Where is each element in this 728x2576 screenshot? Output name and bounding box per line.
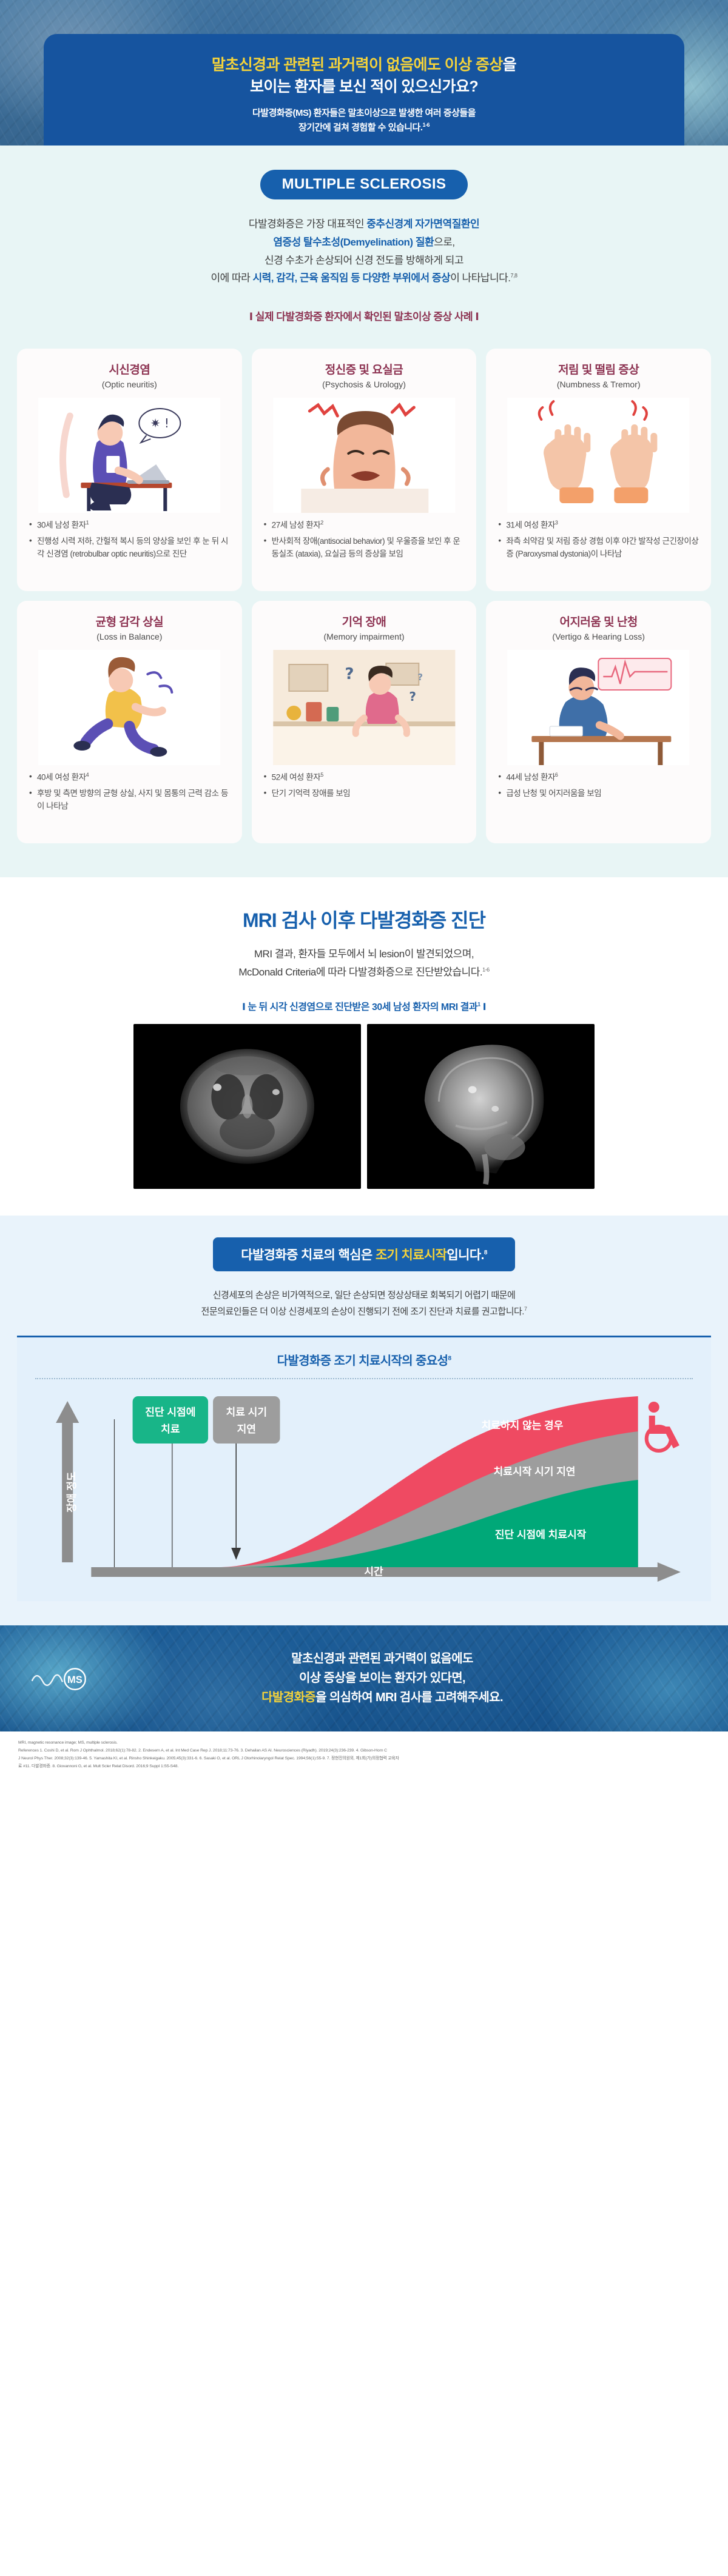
case-card-numbness-tremor: 저림 및 떨림 증상 (Numbness & Tremor) [486, 349, 711, 591]
svg-text:치료: 치료 [161, 1423, 180, 1435]
case-subtitle: (Memory impairment) [261, 632, 467, 641]
cases-section-title: Ⅰ 실제 다발경화증 환자에서 확인된 말초이상 증상 사례 Ⅰ [0, 308, 728, 323]
hero-headline-highlight: 말초신경과 관련된 과거력이 없음에도 이상 증상 [212, 56, 503, 73]
ms-desc-line4-plain-b: 이 나타납니다. [450, 272, 510, 284]
bullet-ref: 2 [320, 520, 323, 526]
cta-line2: 이상 증상을 보이는 환자가 있다면, [261, 1668, 503, 1688]
illustration-man-laptop-eye-pain: ✷ ! [27, 398, 232, 513]
hero-headline-card: 말초신경과 관련된 과거력이 없음에도 이상 증상을 보이는 환자를 보신 적이… [44, 34, 684, 146]
chart-plot: 치료하지 않는 경우 치료시작 시기 지연 진단 시점에 치료시작 진단 시점에… [35, 1385, 693, 1585]
mri-caption-tail: Ⅰ [480, 1002, 486, 1012]
series-label-no-treatment: 치료하지 않는 경우 [481, 1420, 563, 1431]
chart-container: 다발경화증 조기 치료시작의 중요성8 [17, 1336, 711, 1601]
case-bullets: 44세 남성 환자6 급성 난청 및 어지러움을 보임 [496, 771, 701, 804]
treatment-banner-highlight: 조기 치료시작 [376, 1248, 447, 1262]
case-title: 기억 장애 [261, 613, 467, 629]
list-item: 52세 여성 환자5 [264, 771, 465, 784]
series-label-delayed: 치료시작 시기 지연 [494, 1466, 576, 1477]
illustration-woman-falling [27, 650, 232, 765]
bullet-text: 40세 여성 환자 [37, 773, 86, 782]
case-bullets: 40세 여성 환자4 후방 및 측면 방향의 균형 상실, 사지 및 몸통의 근… [27, 771, 232, 817]
mri-desc-ref: 1-6 [482, 966, 490, 972]
treatment-section: 다발경화증 치료의 핵심은 조기 치료시작입니다.8 신경세포의 손상은 비가역… [0, 1216, 728, 1625]
bullet-ref: 4 [86, 772, 89, 778]
bullet-text: 진행성 시력 저하, 간헐적 복시 등의 양상을 보인 후 눈 뒤 시각 신경염… [37, 537, 228, 558]
mri-description: MRI 결과, 환자들 모두에서 뇌 lesion이 발견되었으며, McDon… [0, 945, 728, 982]
y-axis-label: 장애 정도 [66, 1471, 78, 1513]
wheelchair-icon [647, 1402, 679, 1451]
case-cards-row-2: 균형 감각 상실 (Loss in Balance) [17, 601, 711, 843]
mri-heading: MRI 검사 이후 다발경화증 진단 [0, 905, 728, 933]
x-axis-label: 시간 [364, 1566, 383, 1577]
list-item: 진행성 시력 저하, 간헐적 복시 등의 양상을 보인 후 눈 뒤 시각 신경염… [29, 535, 230, 561]
case-bullets: 31세 여성 환자3 좌측 쇠약감 및 저림 증상 경험 이후 야간 발작성 근… [496, 519, 701, 564]
bullet-ref: 5 [320, 772, 323, 778]
svg-text:?: ? [417, 672, 423, 683]
case-subtitle: (Optic neuritis) [27, 380, 232, 389]
ms-logo: MS [29, 1659, 96, 1698]
illustration-man-desk-dizzy [496, 650, 701, 765]
bullet-text: 좌측 쇠약감 및 저림 증상 경험 이후 야간 발작성 근긴장이상증 (Paro… [506, 537, 698, 558]
ms-desc-line1-plain: 다발경화증은 가장 대표적인 [249, 218, 366, 230]
ms-desc-line3: 신경 수초가 손상되어 신경 전도를 방해하게 되고 [0, 252, 728, 270]
svg-text:치료 시기: 치료 시기 [226, 1407, 267, 1418]
bullet-text: 단기 기억력 장애를 보임 [272, 789, 351, 798]
hero-subtext-line1: 다발경화증(MS) 환자들은 말초이상으로 발생한 여러 증상들을 [252, 106, 476, 121]
references-abbrev: MRI, magnetic resonance image; MS, multi… [18, 1740, 710, 1746]
case-bullets: 27세 남성 환자2 반사회적 장애(antisocial behavior) … [261, 519, 467, 564]
hero-headline-tail: 을 [503, 56, 516, 73]
references-line3: 료 #11. 다발경화증. 8. Giovannoni G, et al. Mu… [18, 1764, 710, 1770]
mri-sagittal-brain-image [367, 1024, 595, 1189]
case-subtitle: (Vertigo & Hearing Loss) [496, 632, 701, 641]
mri-desc-line1: MRI 결과, 환자들 모두에서 뇌 lesion이 발견되었으며, [0, 945, 728, 963]
references-line2: J Neurol Phys Ther. 2008;32(3):139-46. 5… [18, 1756, 710, 1762]
cta-line3-plain: 을 의심하여 MRI 검사를 고려해주세요. [315, 1691, 503, 1704]
bullet-text: 27세 남성 환자 [272, 521, 321, 530]
list-item: 좌측 쇠약감 및 저림 증상 경험 이후 야간 발작성 근긴장이상증 (Paro… [498, 535, 699, 561]
treatment-banner-plain: 다발경화증 치료의 핵심은 [241, 1248, 376, 1262]
infographic-page: 말초신경과 관련된 과거력이 없음에도 이상 증상을 보이는 환자를 보신 적이… [0, 0, 728, 1782]
ms-desc-line2-bold: 염증성 탈수초성(Demyelination) 질환 [273, 236, 434, 248]
case-subtitle: (Numbness & Tremor) [496, 380, 701, 389]
treatment-banner-ref: 8 [484, 1250, 487, 1256]
list-item: 후방 및 측면 방향의 균형 상실, 사지 및 몸통의 근력 감소 등이 나타남 [29, 788, 230, 813]
bullet-ref: 3 [555, 520, 558, 526]
treatment-note-line2: 전문의료인들은 더 이상 신경세포의 손상이 진행되기 전에 조기 진단과 치료… [201, 1306, 524, 1317]
case-subtitle: (Loss in Balance) [27, 632, 232, 641]
hero-subtext-line2: 장기간에 걸쳐 경험할 수 있습니다. [298, 122, 423, 133]
illustration-hands-tremor [496, 398, 701, 513]
ms-desc-line4-plain-a: 이에 따라 [211, 272, 253, 284]
svg-text:?: ? [409, 689, 416, 704]
list-item: 급성 난청 및 어지러움을 보임 [498, 788, 699, 800]
svg-text:진단 시점에: 진단 시점에 [145, 1407, 195, 1418]
case-subtitle: (Psychosis & Urology) [261, 380, 467, 389]
case-title: 정신증 및 요실금 [261, 361, 467, 377]
case-cards-row-1: 시신경염 (Optic neuritis) ✷ ! [17, 349, 711, 591]
bullet-text: 31세 여성 환자 [506, 521, 555, 530]
ms-description: 다발경화증은 가장 대표적인 중추신경계 자가면역질환인 염증성 탈수초성(De… [0, 215, 728, 287]
case-card-vertigo-hearing-loss: 어지러움 및 난청 (Vertigo & Hearing Loss) [486, 601, 711, 843]
hero-banner: 말초신경과 관련된 과거력이 없음에도 이상 증상을 보이는 환자를 보신 적이… [0, 0, 728, 146]
treatment-note-line1: 신경세포의 손상은 비가역적으로, 일단 손상되면 정상상태로 회복되기 어렵기… [79, 1287, 649, 1303]
cta-line3-highlight: 다발경화증 [261, 1691, 315, 1704]
ms-desc-line4-bold: 시력, 감각, 근육 움직임 등 다양한 부위에서 증상 [253, 272, 451, 284]
list-item: 31세 여성 환자3 [498, 519, 699, 532]
case-bullets: 30세 남성 환자1 진행성 시력 저하, 간헐적 복시 등의 양상을 보인 후… [27, 519, 232, 564]
chart-title-text: 다발경화증 조기 치료시작의 중요성 [277, 1354, 448, 1368]
delay-arrow [231, 1444, 241, 1560]
mri-section: MRI 검사 이후 다발경화증 진단 MRI 결과, 환자들 모두에서 뇌 le… [0, 877, 728, 1216]
svg-text:✷ !: ✷ ! [150, 416, 169, 430]
case-title: 저림 및 떨림 증상 [496, 361, 701, 377]
list-item: 40세 여성 환자4 [29, 771, 230, 784]
hero-subtext-ref: 1-6 [423, 122, 430, 128]
hero-headline-line2: 보이는 환자를 보신 적이 있으신가요? [212, 76, 516, 98]
cta-banner: MS 말초신경과 관련된 과거력이 없음에도 이상 증상을 보이는 환자가 있다… [0, 1625, 728, 1731]
case-title: 균형 감각 상실 [27, 613, 232, 629]
hero-headline: 말초신경과 관련된 과거력이 없음에도 이상 증상을 보이는 환자를 보신 적이… [212, 55, 516, 98]
callout-delayed-treat: 치료 시기 지연 [213, 1396, 280, 1444]
case-card-optic-neuritis: 시신경염 (Optic neuritis) ✷ ! [17, 349, 242, 591]
list-item: 반사회적 장애(antisocial behavior) 및 우울증을 보인 후… [264, 535, 465, 561]
bullet-ref: 1 [86, 520, 89, 526]
bullet-ref: 6 [555, 772, 558, 778]
mri-caption: Ⅰ 눈 뒤 시각 신경염으로 진단받은 30세 남성 환자의 MRI 결과1 Ⅰ [0, 999, 728, 1013]
case-card-loss-in-balance: 균형 감각 상실 (Loss in Balance) [17, 601, 242, 843]
mri-desc-line2: McDonald Criteria에 따라 다발경화증으로 진단받았습니다. [238, 966, 482, 978]
bullet-text: 반사회적 장애(antisocial behavior) 및 우울증을 보인 후… [272, 537, 460, 558]
list-item: 44세 남성 환자6 [498, 771, 699, 784]
treatment-note-ref: 7 [524, 1306, 527, 1312]
bullet-text: 30세 남성 환자 [37, 521, 86, 530]
treatment-banner-wrap: 다발경화증 치료의 핵심은 조기 치료시작입니다.8 [0, 1216, 728, 1271]
ms-logo-text: MS [67, 1674, 83, 1685]
case-title: 어지러움 및 난청 [496, 613, 701, 629]
ms-desc-line2-plain: 으로, [434, 236, 455, 248]
ms-desc-ref: 7,8 [510, 273, 517, 279]
case-card-memory-impairment: 기억 장애 (Memory impairment) [252, 601, 477, 843]
mri-image-pair [133, 1024, 595, 1189]
treatment-banner: 다발경화증 치료의 핵심은 조기 치료시작입니다.8 [213, 1237, 515, 1271]
callout-diagnosis-treat: 진단 시점에 치료 [133, 1396, 208, 1444]
bullet-text: 52세 여성 환자 [272, 773, 321, 782]
references-line1: References 1. Coshi D, et al. Rom J Opht… [18, 1748, 710, 1754]
chart-divider [35, 1378, 693, 1379]
mri-caption-text: Ⅰ 눈 뒤 시각 신경염으로 진단받은 30세 남성 환자의 MRI 결과 [242, 1002, 477, 1012]
cta-text: 말초신경과 관련된 과거력이 없음에도 이상 증상을 보이는 환자가 있다면, … [225, 1649, 503, 1707]
illustration-man-head-anger [261, 398, 467, 513]
list-item: 30세 남성 환자1 [29, 519, 230, 532]
case-cards-section: 시신경염 (Optic neuritis) ✷ ! [0, 340, 728, 877]
ms-definition-section: MULTIPLE SCLEROSIS 다발경화증은 가장 대표적인 중추신경계 … [0, 146, 728, 340]
treatment-note: 신경세포의 손상은 비가역적으로, 일단 손상되면 정상상태로 회복되기 어렵기… [79, 1287, 649, 1320]
illustration-woman-kitchen-confused: ? ? ? [261, 650, 467, 765]
bullet-text: 후방 및 측면 방향의 균형 상실, 사지 및 몸통의 근력 감소 등이 나타남 [37, 789, 228, 811]
svg-text:?: ? [345, 665, 354, 683]
bullet-text: 급성 난청 및 어지러움을 보임 [506, 789, 601, 798]
ms-desc-line1-bold: 중추신경계 자가면역질환인 [366, 218, 479, 230]
hero-subtext: 다발경화증(MS) 환자들은 말초이상으로 발생한 여러 증상들을 장기간에 걸… [252, 106, 476, 135]
chart-title-ref: 8 [448, 1355, 451, 1362]
case-card-psychosis-urology: 정신증 및 요실금 (Psychosis & Urology) [252, 349, 477, 591]
references-footer: MRI, magnetic resonance image; MS, multi… [0, 1731, 728, 1783]
series-label-early: 진단 시점에 치료시작 [495, 1529, 587, 1541]
ms-badge: MULTIPLE SCLEROSIS [260, 170, 468, 199]
chart-title: 다발경화증 조기 치료시작의 중요성8 [35, 1351, 693, 1368]
treatment-banner-tail: 입니다. [447, 1248, 484, 1262]
cta-line1: 말초신경과 관련된 과거력이 없음에도 [261, 1649, 503, 1668]
bullet-text: 44세 남성 환자 [506, 773, 555, 782]
mri-axial-brain-image [133, 1024, 361, 1189]
case-title: 시신경염 [27, 361, 232, 377]
list-item: 27세 남성 환자2 [264, 519, 465, 532]
svg-text:지연: 지연 [237, 1423, 256, 1435]
case-bullets: 52세 여성 환자5 단기 기억력 장애를 보임 [261, 771, 467, 804]
list-item: 단기 기억력 장애를 보임 [264, 788, 465, 800]
